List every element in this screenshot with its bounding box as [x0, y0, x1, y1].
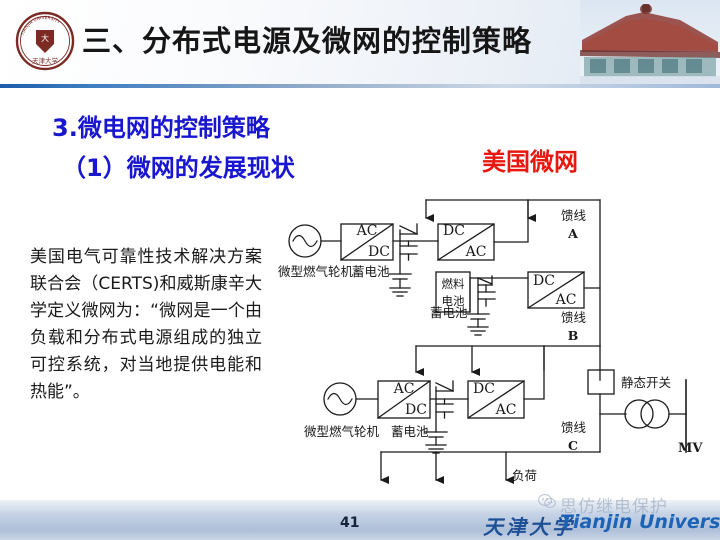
feeder-a-label: 馈线	[561, 208, 587, 223]
fuel-cell-label-line1: 燃料	[442, 277, 465, 291]
battery-label-2: 蓄电池	[430, 305, 468, 320]
microturbine-label-1: 微型燃气轮机	[278, 264, 354, 279]
slide-header: 大 TIANJIN UNIVERSITY 天津大学 三、分布式电源及微网的控制策…	[0, 0, 720, 86]
inverter3-label-ac: AC	[495, 402, 517, 418]
campus-building-photo	[580, 0, 720, 86]
inverter-label-dc: DC	[443, 223, 465, 239]
feeder-c-id: C	[568, 438, 578, 453]
wechat-icon	[538, 493, 556, 509]
tianjin-university-seal-logo: 大 TIANJIN UNIVERSITY 天津大学	[14, 10, 76, 72]
header-divider	[0, 84, 720, 88]
converter-label-ac: AC	[356, 223, 378, 239]
inverter2-label-dc: DC	[533, 273, 555, 289]
body-paragraph: 美国电气可靠性技术解决方案联合会（CERTS)和威斯康辛大学定义微网为：“微网是…	[30, 244, 262, 406]
inverter-label-ac: AC	[465, 244, 487, 260]
inverter3-label-dc: DC	[473, 381, 495, 397]
diagram-svg: AC DC DC AC 微型燃气轮机 蓄电池 燃料 电池 蓄电池 DC AC A…	[278, 184, 720, 496]
slide-canvas: 大 TIANJIN UNIVERSITY 天津大学 三、分布式电源及微网的控制策…	[0, 0, 720, 540]
feeder-a-id: A	[567, 226, 578, 241]
converter2-label-ac: AC	[393, 381, 415, 397]
converter-label-dc: DC	[368, 244, 390, 260]
load-label: 负荷	[512, 468, 537, 483]
feeder-b-label: 馈线	[561, 310, 587, 325]
feeder-c-label: 馈线	[561, 420, 587, 435]
page-number: 41	[340, 515, 359, 531]
university-name-en: Tianjin University	[560, 511, 720, 533]
feeder-b-id: B	[568, 328, 579, 343]
svg-text:天津大学: 天津大学	[32, 56, 59, 65]
section-subtitle-control-strategy: 3.微电网的控制策略	[52, 108, 270, 143]
battery-label-1: 蓄电池	[352, 264, 390, 279]
section-subtitle-development-status: （1）微网的发展现状	[62, 148, 295, 183]
converter2-label-dc: DC	[405, 402, 427, 418]
static-switch-label: 静态开关	[621, 375, 671, 390]
microturbine-label-2: 微型燃气轮机	[304, 424, 380, 439]
page-title: 三、分布式电源及微网的控制策略	[82, 18, 532, 60]
diagram-heading-us-microgrid: 美国微网	[482, 142, 578, 177]
us-microgrid-single-line-diagram: AC DC DC AC 微型燃气轮机 蓄电池 燃料 电池 蓄电池 DC AC A…	[278, 184, 720, 496]
battery-label-3: 蓄电池	[391, 424, 429, 439]
inverter2-label-ac: AC	[555, 292, 577, 308]
svg-text:大: 大	[41, 33, 49, 43]
mv-bus-label: MV	[678, 441, 703, 456]
